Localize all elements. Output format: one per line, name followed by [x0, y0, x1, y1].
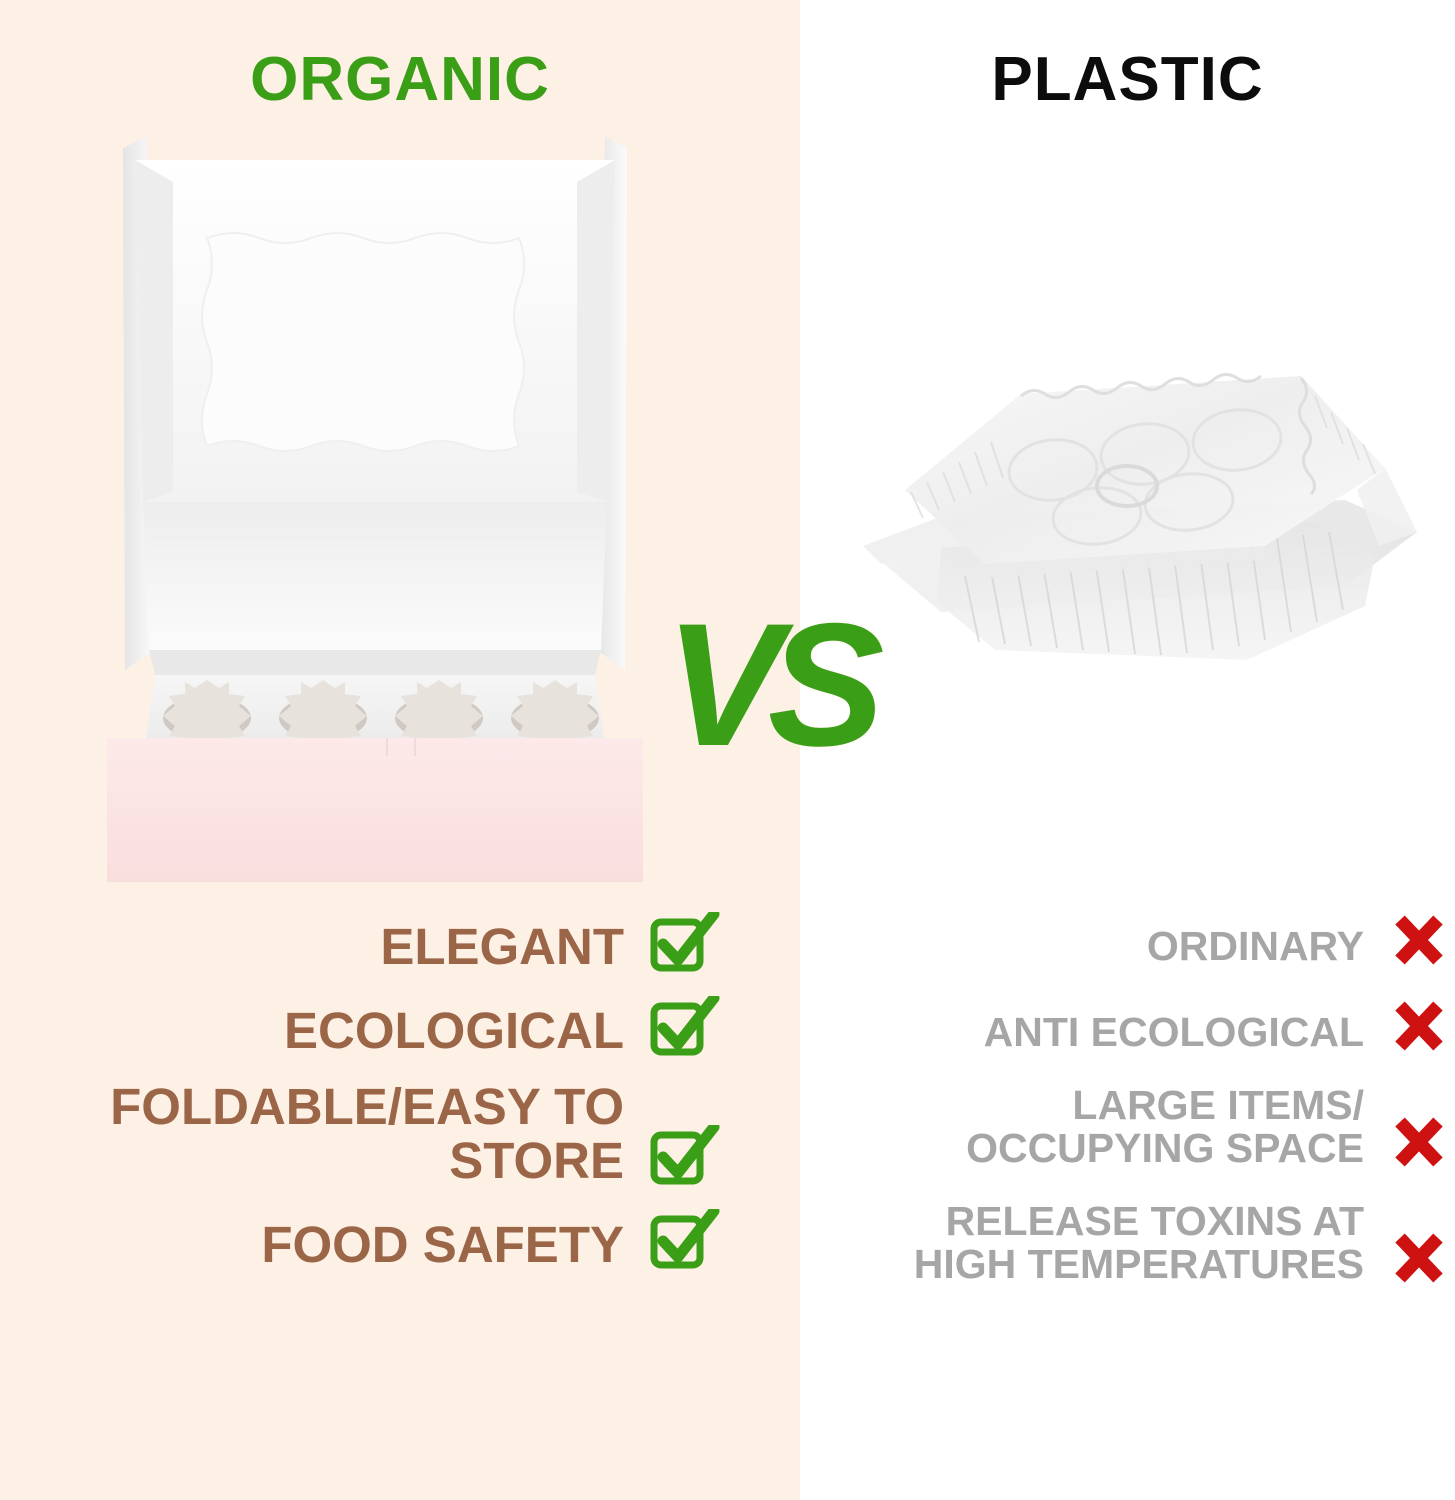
check-icon — [648, 912, 720, 974]
feature-label: ELEGANT — [60, 920, 648, 974]
feature-label: ANTI ECOLOGICAL — [850, 1011, 1388, 1054]
cross-icon — [1388, 1114, 1450, 1170]
feature-label: ECOLOGICAL — [60, 1004, 648, 1058]
organic-feature-list: ELEGANT ECOLOGICAL FOLDABLE/EASY TO STOR… — [60, 912, 720, 1293]
feature-row: ELEGANT — [60, 912, 720, 974]
feature-row: RELEASE TOXINS AT HIGH TEMPERATURES — [850, 1200, 1450, 1286]
feature-row: ECOLOGICAL — [60, 996, 720, 1058]
plastic-clamshell-image — [845, 350, 1435, 690]
organic-paper-cupcake-box-image — [95, 130, 655, 890]
comparison-infographic: ORGANIC PLASTIC — [0, 0, 1455, 1500]
check-icon — [648, 1125, 720, 1187]
feature-row: FOOD SAFETY — [60, 1209, 720, 1271]
plastic-panel-title: PLASTIC — [800, 44, 1455, 115]
feature-label: FOOD SAFETY — [60, 1218, 648, 1272]
organic-panel-title: ORGANIC — [0, 44, 800, 115]
plastic-feature-list: ORDINARY ANTI ECOLOGICAL LARGE ITEMS/ OC… — [850, 912, 1450, 1316]
check-icon — [648, 996, 720, 1058]
vs-badge: VS — [665, 596, 865, 776]
feature-row: ORDINARY — [850, 912, 1450, 968]
feature-label: RELEASE TOXINS AT HIGH TEMPERATURES — [850, 1200, 1388, 1286]
feature-label: LARGE ITEMS/ OCCUPYING SPACE — [850, 1084, 1388, 1170]
cross-icon — [1388, 912, 1450, 968]
cross-icon — [1388, 998, 1450, 1054]
feature-row: ANTI ECOLOGICAL — [850, 998, 1450, 1054]
feature-label: FOLDABLE/EASY TO STORE — [60, 1080, 648, 1187]
cross-icon — [1388, 1230, 1450, 1286]
feature-row: FOLDABLE/EASY TO STORE — [60, 1080, 720, 1187]
feature-row: LARGE ITEMS/ OCCUPYING SPACE — [850, 1084, 1450, 1170]
check-icon — [648, 1209, 720, 1271]
feature-label: ORDINARY — [850, 925, 1388, 968]
